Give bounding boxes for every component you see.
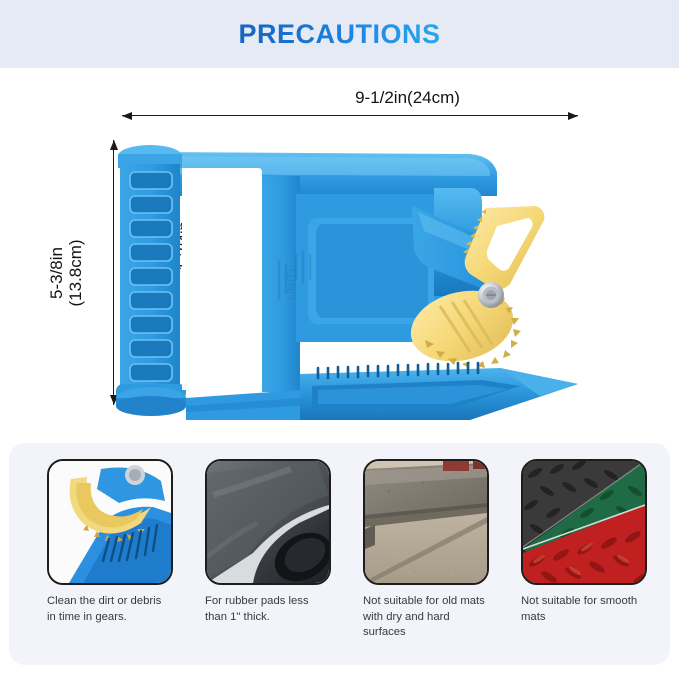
brand-emboss-text: UNITI — [285, 269, 299, 300]
old-dry-mat-on-concrete-photo — [363, 459, 489, 585]
product-diagram: 9-1/2in(24cm) 5-3/8in (13.8cm) 1-3/4in (… — [0, 68, 679, 440]
diamond-plate-mats-photo — [521, 459, 647, 585]
precaution-item: Not suitable for smooth mats — [521, 459, 643, 641]
precaution-caption: Clean the dirt or debris in time in gear… — [47, 594, 169, 625]
product-illustration: UNITI — [0, 68, 679, 440]
tool-gear-closeup-photo — [47, 459, 173, 585]
precaution-caption: Not suitable for old mats with dry and h… — [363, 594, 485, 641]
precaution-item: Clean the dirt or debris in time in gear… — [47, 459, 169, 641]
precaution-item: For rubber pads less than 1" thick. — [205, 459, 327, 641]
precaution-caption: For rubber pads less than 1" thick. — [205, 594, 327, 625]
precaution-item: Not suitable for old mats with dry and h… — [363, 459, 485, 641]
header-bar: PRECAUTIONS — [0, 0, 679, 68]
precautions-panel: Clean the dirt or debris in time in gear… — [9, 443, 670, 665]
page-title: PRECAUTIONS — [238, 19, 440, 50]
precaution-thumbnails-row: Clean the dirt or debris in time in gear… — [9, 443, 670, 641]
precaution-caption: Not suitable for smooth mats — [521, 594, 643, 625]
rubber-mat-roll-photo — [205, 459, 331, 585]
